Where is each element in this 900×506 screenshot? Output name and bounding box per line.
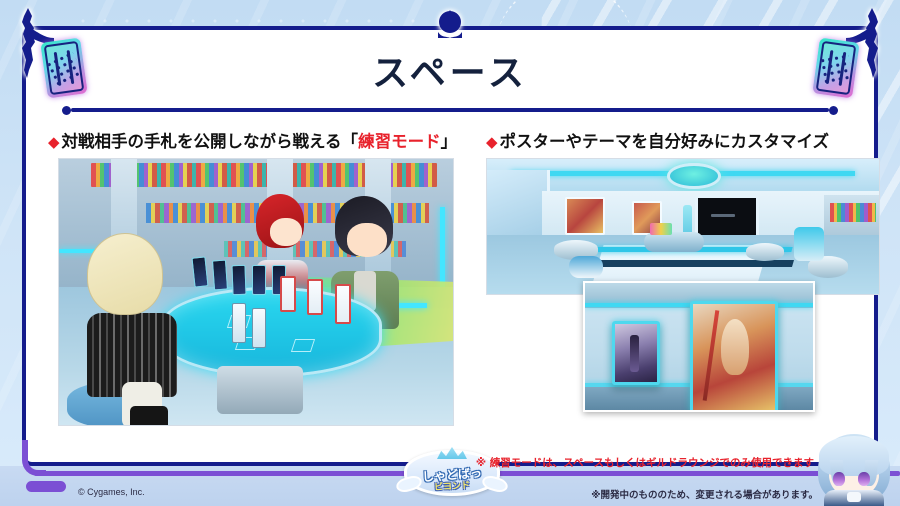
notice-text: ※ 練習モードは、スペースもしくはギルドラウンジでのみ使用できます bbox=[476, 455, 814, 470]
caption-right-text: ポスターやテーマを自分好みにカスタマイズ bbox=[500, 132, 830, 151]
bullet-diamond-icon: ◆ bbox=[48, 133, 60, 151]
chibi-character-mascot bbox=[812, 428, 896, 506]
poster-frame-small bbox=[612, 321, 660, 385]
room-poster bbox=[565, 197, 605, 235]
title-divider bbox=[62, 108, 838, 112]
bullet-diamond-icon: ◆ bbox=[486, 133, 498, 151]
caption-left-text-after: 」 bbox=[441, 132, 458, 151]
card-icon bbox=[40, 37, 87, 98]
caption-left-highlight: 練習モード bbox=[358, 132, 441, 151]
poster-frame-large bbox=[690, 301, 778, 412]
screenshot-practice-mode bbox=[58, 158, 454, 426]
logo-title-line2: ビヨンド bbox=[434, 478, 471, 493]
footer-accent-tab bbox=[26, 481, 66, 492]
footer-accent-curve bbox=[22, 440, 46, 476]
copyright-text: © Cygames, Inc. bbox=[78, 487, 145, 497]
mascot-eye-left bbox=[833, 472, 845, 486]
caption-left: ◆対戦相手の手札を公開しながら戦える「練習モード」 bbox=[48, 128, 457, 152]
page-title: スペース bbox=[0, 44, 900, 96]
divider-bar bbox=[71, 108, 829, 112]
divider-knob-right bbox=[829, 106, 838, 115]
divider-knob-left bbox=[62, 106, 71, 115]
mascot-eye-right bbox=[858, 472, 870, 486]
disclaimer-text: ※開発中のもののため、変更される場合があります。 bbox=[591, 487, 818, 501]
card-icon bbox=[812, 37, 859, 98]
caption-right: ◆ポスターやテーマを自分好みにカスタマイズ bbox=[486, 128, 829, 152]
caption-left-text-before: 対戦相手の手札を公開しながら戦える「 bbox=[62, 132, 359, 151]
screenshot-poster-customization bbox=[583, 281, 815, 412]
room-monitor bbox=[695, 195, 759, 239]
screenshot-space-room bbox=[486, 158, 880, 295]
